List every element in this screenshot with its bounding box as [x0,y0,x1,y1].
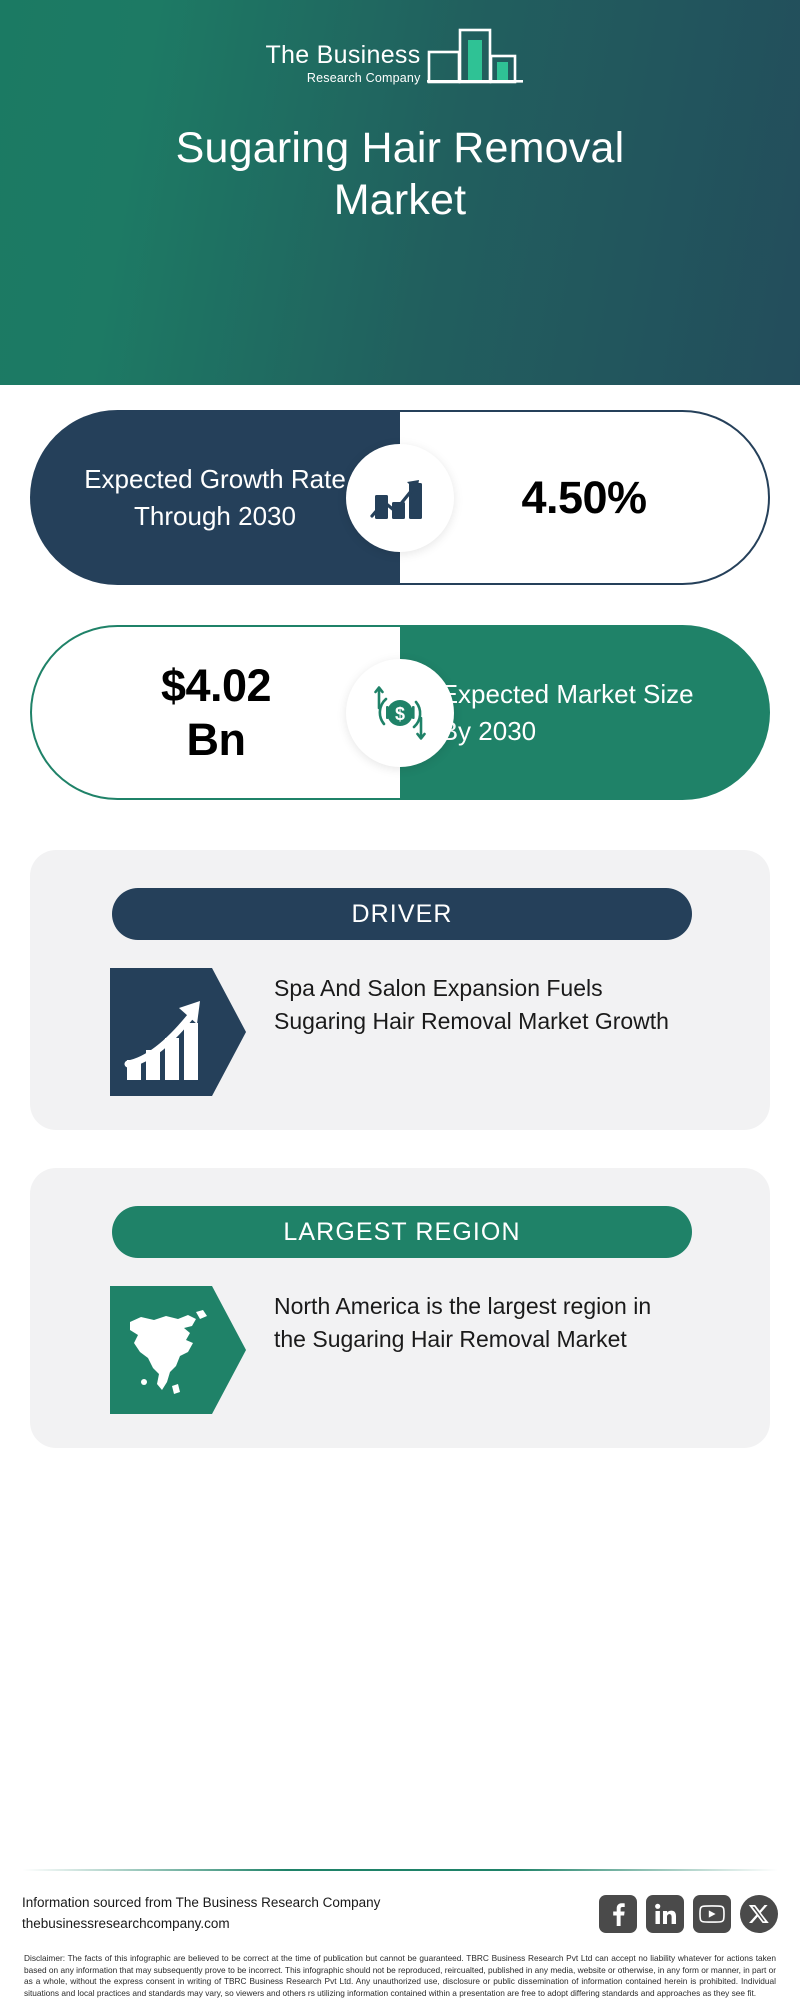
page-title: Sugaring Hair Removal Market [120,122,680,227]
footer-source: Information sourced from The Business Re… [22,1893,380,1935]
largest-region-pill-label: LARGEST REGION [283,1218,520,1247]
x-twitter-icon[interactable] [740,1895,778,1933]
driver-pill-label: DRIVER [351,900,452,929]
linkedin-icon[interactable] [646,1895,684,1933]
dollar-circulation-icon: $ [368,682,432,744]
north-america-map-icon [110,1286,246,1414]
stat-card-growth-rate: Expected Growth Rate Through 2030 4.50% [30,410,770,585]
disclaimer-text: Disclaimer: The facts of this infographi… [18,1949,782,2000]
largest-region-pill: LARGEST REGION [112,1206,692,1258]
svg-text:$: $ [395,704,405,724]
growth-chart-arrow-icon [369,469,431,527]
bar-chart-logo-icon [427,26,535,88]
footer-source-row: Information sourced from The Business Re… [18,1871,782,1949]
header-hero: The Business Research Company Sugaring H… [0,0,800,385]
footer-source-line1: Information sourced from The Business Re… [22,1893,380,1914]
company-logo: The Business Research Company [265,26,534,88]
footer: Information sourced from The Business Re… [0,1869,800,2000]
largest-region-text: North America is the largest region in t… [274,1286,674,1357]
youtube-icon[interactable] [693,1895,731,1933]
market-size-value-unit: Bn [187,714,246,765]
stat-card-market-size: $4.02 Bn Expected Market Size By 2030 $ [30,625,770,800]
facebook-icon[interactable] [599,1895,637,1933]
largest-region-icon-shape [110,1286,246,1414]
market-size-label: Expected Market Size By 2030 [441,676,730,750]
logo-wordmark: The Business Research Company [265,43,420,89]
growth-rate-value: 4.50% [521,472,646,524]
logo-line-primary: The Business [265,43,420,68]
footer-source-line2[interactable]: thebusinessresearchcompany.com [22,1914,380,1935]
growth-rate-label: Expected Growth Rate Through 2030 [71,461,360,535]
driver-body: Spa And Salon Expansion Fuels Sugaring H… [64,968,736,1096]
driver-icon-shape [110,968,246,1096]
rising-bar-arrow-icon [110,968,246,1096]
driver-text: Spa And Salon Expansion Fuels Sugaring H… [274,968,674,1039]
market-size-value-amount: $4.02 [161,660,271,711]
market-size-badge: $ [346,659,454,767]
social-links [599,1895,778,1933]
growth-rate-label-panel: Expected Growth Rate Through 2030 [30,410,400,585]
growth-rate-value-panel: 4.50% [400,410,770,585]
market-size-value: $4.02 Bn [161,659,271,765]
largest-region-body: North America is the largest region in t… [64,1286,736,1414]
growth-rate-badge [346,444,454,552]
driver-panel: DRIVER Spa And Salon Expansion Fuels Sug… [30,850,770,1130]
infographic-page: The Business Research Company Sugaring H… [0,0,800,2000]
stat-cards: Expected Growth Rate Through 2030 4.50% … [0,410,800,800]
largest-region-panel: LARGEST REGION North America is the larg… [30,1168,770,1448]
driver-pill: DRIVER [112,888,692,940]
market-size-label-panel: Expected Market Size By 2030 [400,625,770,800]
market-size-value-panel: $4.02 Bn [30,625,400,800]
logo-line-secondary: Research Company [307,72,421,85]
